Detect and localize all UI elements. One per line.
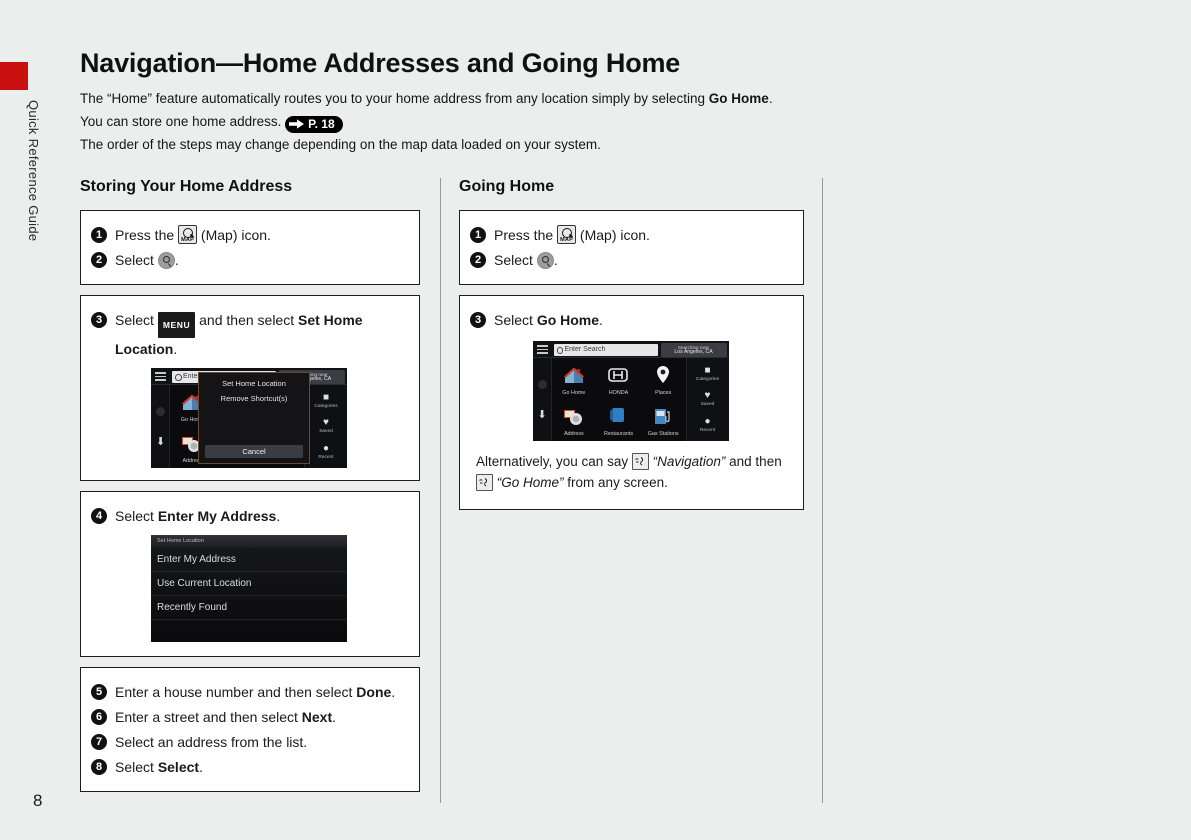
step-box-2-left: 3 Select MENU and then select Set Home L… xyxy=(80,295,420,481)
nav-tile-places[interactable]: Places xyxy=(641,358,686,400)
list-item[interactable]: Enter My Address xyxy=(151,548,347,572)
two-column-body: Storing Your Home Address 1 Press the MA… xyxy=(80,178,1110,803)
hamburger-menu-icon[interactable] xyxy=(155,372,166,381)
intro-line-2: You can store one home address. P. 18 xyxy=(80,110,1110,133)
searching-near-indicator: Searching near Los Angeles, CA xyxy=(661,343,727,357)
step-5-left: 5 Enter a house number and then select D… xyxy=(91,681,407,703)
dialog-cancel-button[interactable]: Cancel xyxy=(205,445,303,458)
intro-line-1-text: The “Home” feature automatically routes … xyxy=(80,91,709,106)
step-text: Press the xyxy=(115,227,174,243)
step-1-right: 1 Press the MAP (Map) icon. xyxy=(470,224,791,246)
voice-command-icon xyxy=(476,474,493,491)
voice-command-note: Alternatively, you can say “Navigation” … xyxy=(470,447,791,499)
heart-icon: ♥ xyxy=(319,417,333,428)
voice-phrase-go-home: “Go Home” xyxy=(497,475,564,490)
cutlery-icon xyxy=(605,403,631,429)
nav-tile-label: Address xyxy=(564,431,584,437)
note-text-mid: and then xyxy=(729,454,782,469)
list-item[interactable]: Recently Found xyxy=(151,596,347,620)
done-emphasis: Done xyxy=(356,684,391,700)
rail-item-recent[interactable]: ● Recent xyxy=(318,443,333,461)
rail-item-categories[interactable]: ■ Categories xyxy=(314,392,337,410)
step-2-left: 2 Select . xyxy=(91,249,407,271)
page-number: 8 xyxy=(33,791,42,811)
section-heading-going-home: Going Home xyxy=(459,178,804,196)
list-header: Set Home Location xyxy=(151,535,347,548)
step-text-tail: . xyxy=(175,252,179,268)
step-7-left: 7 Select an address from the list. xyxy=(91,731,407,753)
tag-icon: ■ xyxy=(314,392,337,403)
nav-left-rail: ⬇ xyxy=(151,385,170,468)
note-text: Alternatively, you can say xyxy=(476,454,628,469)
note-text-tail: from any screen. xyxy=(567,475,668,490)
voice-command-icon xyxy=(632,453,649,470)
nav-tile-grid: Go Home HONDA xyxy=(552,358,686,441)
nav-topbar: Enter Search Searching near Los Angeles,… xyxy=(533,341,729,358)
mailbox-icon xyxy=(561,403,587,429)
nav-right-rail: ■ Categories ♥ Saved ● Recent xyxy=(304,385,347,468)
nav-tile-label: HONDA xyxy=(609,390,628,396)
nav-tile-label: Gas Stations xyxy=(648,431,679,437)
column-divider-1 xyxy=(440,178,441,803)
column-divider-2 xyxy=(822,178,823,803)
step-text: Enter a street and then select xyxy=(115,709,302,725)
section-heading-storing: Storing Your Home Address xyxy=(80,178,420,196)
intro-line-1-period: . xyxy=(769,91,773,106)
step-2-right: 2 Select . xyxy=(470,249,791,271)
step-box-1-right: 1 Press the MAP (Map) icon. 2 Select . xyxy=(459,210,804,285)
go-home-emphasis: Go Home xyxy=(709,91,769,106)
menu-popup-dialog: Set Home Location Remove Shortcut(s) Can… xyxy=(198,372,310,464)
menu-button-icon[interactable]: MENU xyxy=(158,312,195,338)
step-6-left: 6 Enter a street and then select Next. xyxy=(91,706,407,728)
arrow-right-icon xyxy=(289,119,305,129)
rail-item-label: Recent xyxy=(318,455,333,460)
next-emphasis: Next xyxy=(302,709,332,725)
step-number: 6 xyxy=(91,709,107,725)
column-storing-home-address: Storing Your Home Address 1 Press the MA… xyxy=(80,178,420,803)
column-going-home: Going Home 1 Press the MAP (Map) icon. 2… xyxy=(459,178,804,803)
down-arrow-icon[interactable]: ⬇ xyxy=(156,437,165,448)
page-reference-label: P. 18 xyxy=(308,117,334,132)
intro-text: The “Home” feature automatically routes … xyxy=(80,87,1110,156)
house-icon xyxy=(561,362,587,388)
step-number: 3 xyxy=(470,312,486,328)
step-text-tail: . xyxy=(599,312,603,328)
down-arrow-icon[interactable]: ⬇ xyxy=(538,410,547,421)
step-box-2-right: 3 Select Go Home. Enter Search Searching… xyxy=(459,295,804,510)
nav-tile-label: Restaurants xyxy=(604,431,633,437)
step-number: 3 xyxy=(91,312,107,328)
step-text-tail: . xyxy=(391,684,395,700)
heart-icon: ♥ xyxy=(701,390,715,401)
rail-dot-icon xyxy=(156,407,165,416)
page-content: Navigation—Home Addresses and Going Home… xyxy=(80,48,1110,803)
step-text-tail: . xyxy=(554,252,558,268)
hamburger-menu-icon[interactable] xyxy=(537,345,548,354)
honda-logo-icon xyxy=(605,362,631,388)
nav-search-input[interactable]: Enter Search xyxy=(554,344,658,356)
rail-dot-icon xyxy=(538,380,547,389)
step-text: Select xyxy=(494,252,533,268)
step-text: Select xyxy=(115,759,158,775)
step-text: Select xyxy=(115,312,154,328)
rail-item-label: Saved xyxy=(701,402,715,407)
chapter-tab-label: Quick Reference Guide xyxy=(26,100,41,241)
page-title: Navigation—Home Addresses and Going Home xyxy=(80,48,1110,79)
step-text-tail: . xyxy=(173,341,177,357)
search-button-icon[interactable] xyxy=(537,252,554,269)
intro-line-1: The “Home” feature automatically routes … xyxy=(80,87,1110,110)
dialog-item-set-home-location[interactable]: Set Home Location xyxy=(199,373,309,388)
step-text-tail: (Map) icon. xyxy=(201,227,271,243)
select-emphasis: Select xyxy=(158,759,199,775)
step-8-left: 8 Select Select. xyxy=(91,756,407,778)
nav-tile-address[interactable]: Address xyxy=(552,400,597,442)
voice-phrase-navigation: “Navigation” xyxy=(653,454,726,469)
map-pin-icon xyxy=(650,362,676,388)
step-1-left: 1 Press the MAP (Map) icon. xyxy=(91,224,407,246)
step-number: 5 xyxy=(91,684,107,700)
page-reference-badge[interactable]: P. 18 xyxy=(285,116,342,133)
nav-tile-go-home[interactable]: Go Home xyxy=(552,358,597,400)
go-home-emphasis: Go Home xyxy=(537,312,599,328)
rail-item-label: Categories xyxy=(696,377,719,382)
tag-icon: ■ xyxy=(696,365,719,376)
enter-my-address-emphasis: Enter My Address xyxy=(158,508,277,524)
nav-screenshot-home-location-list: Set Home Location Enter My Address Use C… xyxy=(151,535,347,642)
step-text-mid: and then select xyxy=(199,312,298,328)
nav-right-rail: ■ Categories ♥ Saved ● Recent xyxy=(686,358,729,441)
chapter-tab-marker xyxy=(0,62,28,90)
step-3-right: 3 Select Go Home. xyxy=(470,309,791,331)
rail-item-recent[interactable]: ● Recent xyxy=(700,416,715,434)
step-text: Press the xyxy=(494,227,553,243)
nav-tile-honda[interactable]: HONDA xyxy=(596,358,641,400)
step-3-left: 3 Select MENU and then select Set Home L… xyxy=(91,309,407,360)
intro-line-2-text: You can store one home address. xyxy=(80,114,281,129)
nav-tile-label: Go Home xyxy=(562,390,585,396)
rail-item-label: Categories xyxy=(314,404,337,409)
step-number: 1 xyxy=(91,227,107,243)
step-number: 2 xyxy=(91,252,107,268)
step-text-tail: . xyxy=(332,709,336,725)
step-box-1-left: 1 Press the MAP (Map) icon. 2 Select . xyxy=(80,210,420,285)
nav-tile-label: Places xyxy=(655,390,671,396)
step-number: 7 xyxy=(91,734,107,750)
step-4-left: 4 Select Enter My Address. xyxy=(91,505,407,527)
step-number: 4 xyxy=(91,508,107,524)
step-text: Select an address from the list. xyxy=(115,731,407,753)
intro-line-3: The order of the steps may change depend… xyxy=(80,133,1110,156)
step-text: Select xyxy=(494,312,537,328)
step-number: 1 xyxy=(470,227,486,243)
step-text-tail: . xyxy=(276,508,280,524)
map-button-icon[interactable]: MAP xyxy=(178,225,197,244)
step-box-3-left: 4 Select Enter My Address. Set Home Loca… xyxy=(80,491,420,657)
step-text-tail: (Map) icon. xyxy=(580,227,650,243)
nav-screenshot-menu-dialog: Enter Search Searching near Los Angeles,… xyxy=(151,368,347,468)
clock-icon: ● xyxy=(318,443,333,454)
nav-left-rail: ⬇ xyxy=(533,358,552,441)
nav-tile-restaurants[interactable]: Restaurants xyxy=(596,400,641,442)
step-text-tail: . xyxy=(199,759,203,775)
step-number: 8 xyxy=(91,759,107,775)
fuel-pump-icon xyxy=(650,403,676,429)
list-item[interactable]: Use Current Location xyxy=(151,572,347,596)
nav-screenshot-home-screen: Enter Search Searching near Los Angeles,… xyxy=(533,341,729,441)
step-text: Enter a house number and then select xyxy=(115,684,356,700)
rail-item-label: Recent xyxy=(700,428,715,433)
step-text: Select xyxy=(115,508,158,524)
rail-item-categories[interactable]: ■ Categories xyxy=(696,365,719,383)
clock-icon: ● xyxy=(700,416,715,427)
dialog-item-remove-shortcuts[interactable]: Remove Shortcut(s) xyxy=(199,388,309,403)
searching-near-value: Los Angeles, CA xyxy=(661,350,727,356)
step-text: Select xyxy=(115,252,154,268)
map-button-icon[interactable]: MAP xyxy=(557,225,576,244)
rail-item-saved[interactable]: ♥ Saved xyxy=(319,417,333,435)
search-button-icon[interactable] xyxy=(158,252,175,269)
rail-item-label: Saved xyxy=(319,429,333,434)
nav-tile-gas-stations[interactable]: Gas Stations xyxy=(641,400,686,442)
rail-item-saved[interactable]: ♥ Saved xyxy=(701,390,715,408)
step-number: 2 xyxy=(470,252,486,268)
step-box-4-left: 5 Enter a house number and then select D… xyxy=(80,667,420,792)
